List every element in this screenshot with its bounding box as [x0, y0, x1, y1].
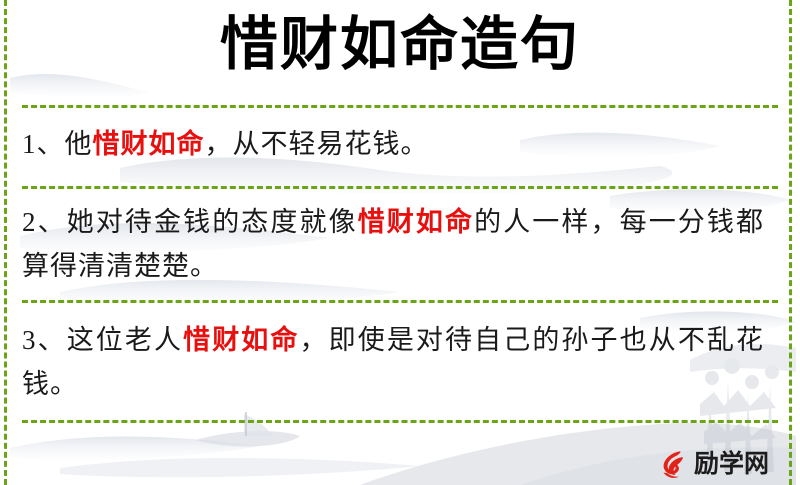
site-watermark: 励学网 — [655, 446, 769, 482]
sentence-number-3: 3、 — [22, 325, 67, 355]
sentence-text-before-1: 他 — [65, 129, 93, 159]
sentence-text-before-2: 她对待金钱的态度就像 — [67, 207, 358, 237]
left-dashed-border — [4, 0, 7, 485]
divider-rule-1 — [22, 105, 778, 108]
divider-rule-2 — [22, 186, 778, 189]
idiom-highlight-3: 惜财如命 — [183, 325, 299, 355]
sentence-number-2: 2、 — [22, 207, 67, 237]
page-title: 惜财如命造句 — [0, 8, 800, 82]
sentence-item-2: 2、她对待金钱的态度就像惜财如命的人一样，每一分钱都算得清清楚楚。 — [22, 200, 764, 288]
sentence-text-after-1: ，从不轻易花钱。 — [205, 129, 429, 159]
sentence-item-3: 3、这位老人惜财如命，即使是对待自己的孙子也从不乱花钱。 — [22, 318, 764, 406]
site-brand-name: 励学网 — [694, 447, 769, 481]
idiom-highlight-2: 惜财如命 — [358, 207, 474, 237]
right-dashed-border — [789, 0, 792, 485]
divider-rule-3 — [22, 300, 778, 303]
divider-rule-4 — [22, 420, 778, 423]
sentence-item-1: 1、他惜财如命，从不轻易花钱。 — [22, 122, 764, 166]
idiom-highlight-1: 惜财如命 — [93, 129, 205, 159]
sentence-number-1: 1、 — [22, 129, 65, 159]
sentence-text-before-3: 这位老人 — [67, 325, 183, 355]
worksheet-page: 惜财如命造句 1、他惜财如命，从不轻易花钱。 2、她对待金钱的态度就像惜财如命的… — [0, 0, 800, 485]
red-swirl-phoenix-icon — [655, 447, 689, 481]
